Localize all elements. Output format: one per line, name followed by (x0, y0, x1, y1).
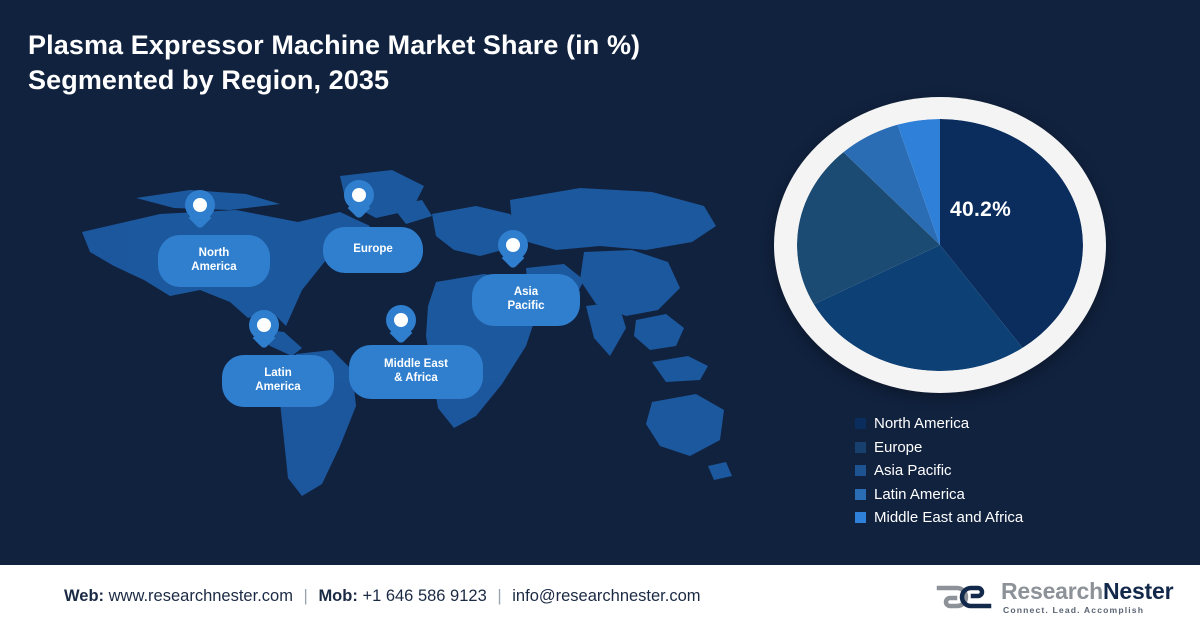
page-title: Plasma Expressor Machine Market Share (i… (28, 28, 768, 98)
footer-email[interactable]: info@researchnester.com (512, 587, 700, 605)
legend-label-latin-america: Latin America (874, 486, 965, 503)
map-pin-north-america[interactable] (185, 190, 215, 230)
footer-separator-2: | (491, 587, 507, 605)
chart-legend: North America Europe Asia Pacific Latin … (855, 412, 1023, 530)
pie-chart: 40.2% (765, 95, 1115, 395)
map-pin-asia-pacific[interactable] (498, 230, 528, 270)
pin-dot-icon (506, 238, 520, 252)
footer-web-label: Web: (64, 587, 104, 605)
pie-slices (797, 119, 1083, 371)
legend-swatch-asia-pacific (855, 465, 866, 476)
legend-item-europe[interactable]: Europe (855, 436, 1023, 460)
map-pin-latin-america[interactable] (249, 310, 279, 350)
legend-label-asia-pacific: Asia Pacific (874, 462, 952, 479)
map-label-latin-america[interactable]: Latin America (222, 355, 334, 407)
infographic-page: Plasma Expressor Machine Market Share (i… (0, 0, 1200, 628)
legend-item-asia-pacific[interactable]: Asia Pacific (855, 459, 1023, 483)
footer-separator-1: | (298, 587, 314, 605)
map-label-asia-pacific[interactable]: Asia Pacific (472, 274, 580, 326)
pin-dot-icon (352, 188, 366, 202)
logo-tagline: Connect. Lead. Accomplish (1003, 605, 1144, 615)
map-pin-europe[interactable] (344, 180, 374, 220)
legend-label-north-america: North America (874, 415, 969, 432)
pie-svg (797, 119, 1083, 371)
legend-label-middle-east-africa: Middle East and Africa (874, 509, 1023, 526)
pin-dot-icon (257, 318, 271, 332)
footer-bar: Web: www.researchnester.com | Mob: +1 64… (0, 565, 1200, 628)
map-label-middle-east-africa[interactable]: Middle East & Africa (349, 345, 483, 399)
company-logo[interactable]: ResearchNester Connect. Lead. Accomplish (935, 574, 1150, 620)
footer-web-value[interactable]: www.researchnester.com (109, 587, 293, 605)
footer-contact: Web: www.researchnester.com | Mob: +1 64… (64, 587, 701, 606)
logo-name-nester: Nester (1103, 578, 1173, 604)
footer-mob-value[interactable]: +1 646 586 9123 (362, 587, 486, 605)
pin-dot-icon (193, 198, 207, 212)
pin-dot-icon (394, 313, 408, 327)
legend-item-latin-america[interactable]: Latin America (855, 483, 1023, 507)
legend-swatch-middle-east-africa (855, 512, 866, 523)
world-map: North America Europe Asia Pacific Latin … (40, 140, 740, 530)
footer-mob-label: Mob: (318, 587, 357, 605)
legend-label-europe: Europe (874, 439, 922, 456)
logo-name-research: Research (1001, 578, 1103, 604)
legend-item-north-america[interactable]: North America (855, 412, 1023, 436)
legend-swatch-latin-america (855, 489, 866, 500)
map-label-north-america[interactable]: North America (158, 235, 270, 287)
legend-swatch-europe (855, 442, 866, 453)
logo-wordmark: ResearchNester (1001, 578, 1173, 605)
pie-slice-label-north-america: 40.2% (950, 198, 1011, 222)
legend-swatch-north-america (855, 418, 866, 429)
logo-mark-icon (935, 583, 993, 611)
map-pin-middle-east-africa[interactable] (386, 305, 416, 345)
legend-item-middle-east-africa[interactable]: Middle East and Africa (855, 506, 1023, 530)
map-label-europe[interactable]: Europe (323, 227, 423, 273)
